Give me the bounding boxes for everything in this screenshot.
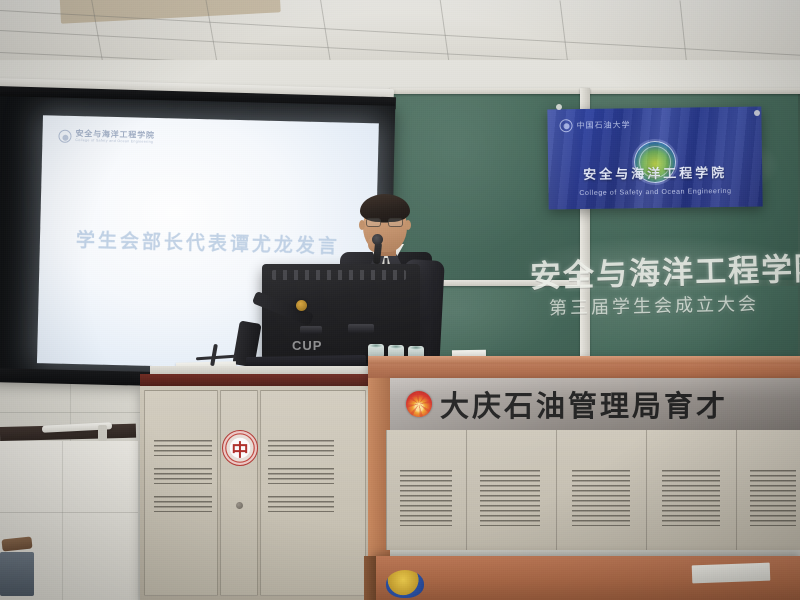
panel-vent-slots [400, 470, 452, 526]
cabinet-vent-slots [154, 468, 212, 484]
panel-divider [646, 430, 647, 550]
wall-tile-line [0, 512, 138, 513]
wall-bracket [98, 425, 107, 441]
panel-vent-slots [750, 470, 796, 526]
cabinet-handle[interactable] [236, 502, 243, 509]
panel-vent-slots [572, 470, 630, 526]
eyeglasses-right-lens [388, 218, 403, 227]
slide-title: 学生会部长代表谭尤龙发言 [40, 224, 377, 259]
college-banner: 中国石油大学 安全与海洋工程学院 College of Safety and O… [547, 107, 762, 210]
panel-divider [556, 430, 557, 550]
ceiling-grid-line [0, 10, 800, 57]
eyeglasses-left-lens [366, 218, 381, 227]
university-logo: 中国石油大学 [559, 118, 630, 132]
speaker-ear [405, 220, 411, 230]
podium-cabinet: 中 [140, 386, 370, 600]
panel-divider [466, 430, 467, 550]
lecture-hall-scene: 安全与海洋工程学院 第三届学生会成立大会 中国石油大学 安全与海洋工程学院 Co… [0, 0, 800, 600]
slide-logo-en: College of Safety and Ocean Engineering [75, 139, 154, 145]
event-banner-text: 大庆石油管理局育才 [440, 383, 728, 425]
slide-logo: 安全与海洋工程学院 College of Safety and Ocean En… [58, 130, 154, 145]
panel-vent-slots [480, 470, 540, 526]
speaker-ear [359, 220, 365, 230]
cabinet-vent-slots [268, 440, 334, 456]
desk-object [386, 570, 424, 598]
cabinet-vent-slots [154, 440, 212, 456]
slide-logo-icon [58, 130, 71, 143]
monitor-brand-mark: CUP [292, 338, 322, 353]
desk-note-card [692, 563, 771, 584]
monitor-port [348, 324, 374, 333]
university-logo-icon [559, 119, 572, 132]
cabinet-door-left[interactable] [144, 390, 218, 596]
banner-tie [754, 110, 760, 116]
banner-title-cn: 安全与海洋工程学院 [548, 162, 762, 184]
front-desk-edge [364, 556, 376, 600]
university-emblem: 中 [222, 430, 258, 466]
head-table-edge [368, 356, 800, 364]
university-logo-label: 中国石油大学 [576, 119, 630, 131]
panel-divider [736, 430, 737, 550]
cabinet-door-right[interactable] [260, 390, 366, 596]
panel-divider [386, 430, 387, 550]
cabinet-door-center[interactable] [220, 390, 258, 596]
desk-surface [150, 366, 400, 374]
monitor-port [300, 326, 322, 334]
event-banner: 大庆石油管理局育才 [388, 378, 800, 430]
monitor-vents [272, 270, 406, 280]
monitor-arm-joint [296, 300, 307, 311]
banner-title-en: College of Safety and Ocean Engineering [548, 188, 762, 198]
chalkboard-frame [390, 88, 800, 94]
petrochina-logo-icon [406, 391, 432, 417]
banner-tie [556, 104, 562, 110]
chair-seat [0, 552, 34, 596]
wall-tile-line [62, 441, 63, 600]
microphone-head [372, 234, 383, 245]
cabinet-vent-slots [268, 496, 334, 512]
eyeglasses-bridge [381, 222, 388, 223]
panel-vent-slots [662, 470, 720, 526]
cabinet-vent-slots [154, 496, 212, 512]
cabinet-vent-slots [268, 468, 334, 484]
